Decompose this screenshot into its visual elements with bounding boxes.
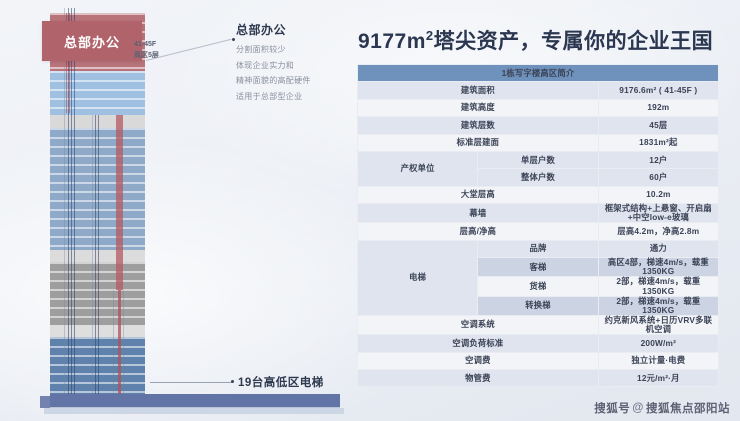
row-group-label-elevator: 电梯 xyxy=(358,240,478,315)
elevator-callout-label: 19台高低区电梯 xyxy=(238,374,324,390)
annotation-line-1: 分割面积较少 xyxy=(236,42,346,58)
row-label: 建筑高度 xyxy=(358,99,599,116)
row-sublabel: 品牌 xyxy=(478,240,598,257)
row-value: 2部，梯速4m/s，载重1350KG xyxy=(598,277,718,296)
row-sublabel: 转换梯 xyxy=(478,296,598,315)
mullion-line xyxy=(95,115,96,408)
row-value: 45层 xyxy=(598,117,718,134)
leader-line-bottom xyxy=(150,382,233,383)
row-value: 通力 xyxy=(598,240,718,257)
core-shaft-red xyxy=(116,115,123,290)
mullion-line xyxy=(123,290,124,408)
floor-range-line1: 41-45F xyxy=(134,40,159,51)
row-sublabel: 整体户数 xyxy=(478,169,598,186)
watermark-prefix: 搜狐号 xyxy=(594,400,630,416)
table-row: 空调负荷标准 200W/m² xyxy=(358,335,719,352)
table-row: 产权单位 单层户数 12户 xyxy=(358,151,719,168)
page-title: 9177m2塔尖资产，专属你的企业王国 xyxy=(358,25,713,55)
annotation-title: 总部办公 xyxy=(236,21,346,38)
headline-superscript: 2 xyxy=(426,28,434,43)
row-label: 建筑层数 xyxy=(358,117,599,134)
tower-banner-label: 总部办公 xyxy=(64,32,120,51)
table-row: 大堂层高 10.2m xyxy=(358,186,719,203)
watermark-site: 搜狐焦点邵阳站 xyxy=(646,400,730,416)
tower-banner: 总部办公 xyxy=(42,21,142,61)
annotation-line-2: 体现企业实力和 xyxy=(236,58,346,74)
row-value: 框架式结构+上悬窗、开启扇+中空low-e玻璃 xyxy=(598,204,718,223)
table-row: 建筑高度 192m xyxy=(358,99,719,116)
row-label: 标准层建面 xyxy=(358,134,599,151)
mullion-line xyxy=(92,115,93,408)
row-value: 独立计量·电费 xyxy=(598,352,718,369)
headline-prefix: 9177m xyxy=(358,30,426,53)
row-sublabel: 客梯 xyxy=(478,258,598,277)
row-value: 12元/m²·月 xyxy=(598,369,718,386)
row-value: 60户 xyxy=(598,169,718,186)
spec-table-wrapper: 1栋写字楼高区简介 建筑面积 9176.6m² ( 41-45F ) 建筑高度 … xyxy=(357,64,719,387)
table-row: 空调系统 约克新风系统+日历VRV多联机空调 xyxy=(358,315,719,334)
table-row: 建筑层数 45层 xyxy=(358,117,719,134)
leader-dot-bottom xyxy=(231,380,234,383)
row-value: 层高4.2m，净高2.8m xyxy=(598,223,718,240)
annotation-line-4: 适用于总部型企业 xyxy=(236,89,346,105)
mullion-line xyxy=(71,8,72,408)
table-row: 建筑面积 9176.6m² ( 41-45F ) xyxy=(358,82,719,99)
spec-table-title: 1栋写字楼高区简介 xyxy=(358,65,719,82)
row-label: 空调系统 xyxy=(358,315,599,334)
row-label: 幕墙 xyxy=(358,204,599,223)
mullion-line xyxy=(64,8,65,408)
row-value: 高区4部，梯速4m/s，载重1350KG xyxy=(598,258,718,277)
podium-slab xyxy=(50,394,340,408)
row-label: 建筑面积 xyxy=(358,82,599,99)
row-value: 192m xyxy=(598,99,718,116)
mullion-line xyxy=(74,8,75,408)
leader-dot-top xyxy=(232,38,235,41)
row-label: 大堂层高 xyxy=(358,186,599,203)
row-sublabel: 货梯 xyxy=(478,277,598,296)
row-sublabel: 单层户数 xyxy=(478,151,598,168)
slide-canvas: 总部办公 41-45F 高区5层 总部办公 分割面积较少 体现企业实力和 精神面… xyxy=(0,0,740,421)
table-row: 标准层建面 1831m²起 xyxy=(358,134,719,151)
spec-table: 1栋写字楼高区简介 建筑面积 9176.6m² ( 41-45F ) 建筑高度 … xyxy=(357,64,719,387)
row-label: 物管费 xyxy=(358,369,599,386)
table-row: 物管费 12元/m²·月 xyxy=(358,369,719,386)
annotation-block: 总部办公 分割面积较少 体现企业实力和 精神面貌的高配硬件 适用于总部型企业 xyxy=(236,21,346,104)
row-value: 1831m²起 xyxy=(598,134,718,151)
building-plinth xyxy=(44,408,344,414)
row-value: 9176.6m² ( 41-45F ) xyxy=(598,82,718,99)
row-group-label-ownership: 产权单位 xyxy=(358,151,478,186)
row-label: 空调负荷标准 xyxy=(358,335,599,352)
table-row: 幕墙 框架式结构+上悬窗、开启扇+中空low-e玻璃 xyxy=(358,204,719,223)
row-value: 约克新风系统+日历VRV多联机空调 xyxy=(598,315,718,334)
row-value: 12户 xyxy=(598,151,718,168)
table-row: 层高/净高 层高4.2m，净高2.8m xyxy=(358,223,719,240)
row-value: 2部，梯速4m/s，载重1350KG xyxy=(598,296,718,315)
table-row: 空调费 独立计量·电费 xyxy=(358,352,719,369)
row-value: 200W/m² xyxy=(598,335,718,352)
watermark: 搜狐号@搜狐焦点邵阳站 xyxy=(594,400,730,416)
watermark-at: @ xyxy=(632,402,644,414)
annotation-line-3: 精神面貌的高配硬件 xyxy=(236,73,346,89)
row-label: 空调费 xyxy=(358,352,599,369)
spec-table-header-row: 1栋写字楼高区简介 xyxy=(358,65,719,82)
headline-rest: 塔尖资产，专属你的企业王国 xyxy=(434,30,714,53)
mullion-line xyxy=(98,115,99,408)
row-value: 10.2m xyxy=(598,186,718,203)
table-row: 电梯 品牌 通力 xyxy=(358,240,719,257)
row-label: 层高/净高 xyxy=(358,223,599,240)
core-shaft-red-lower xyxy=(118,290,121,408)
mullion-line xyxy=(113,290,114,408)
